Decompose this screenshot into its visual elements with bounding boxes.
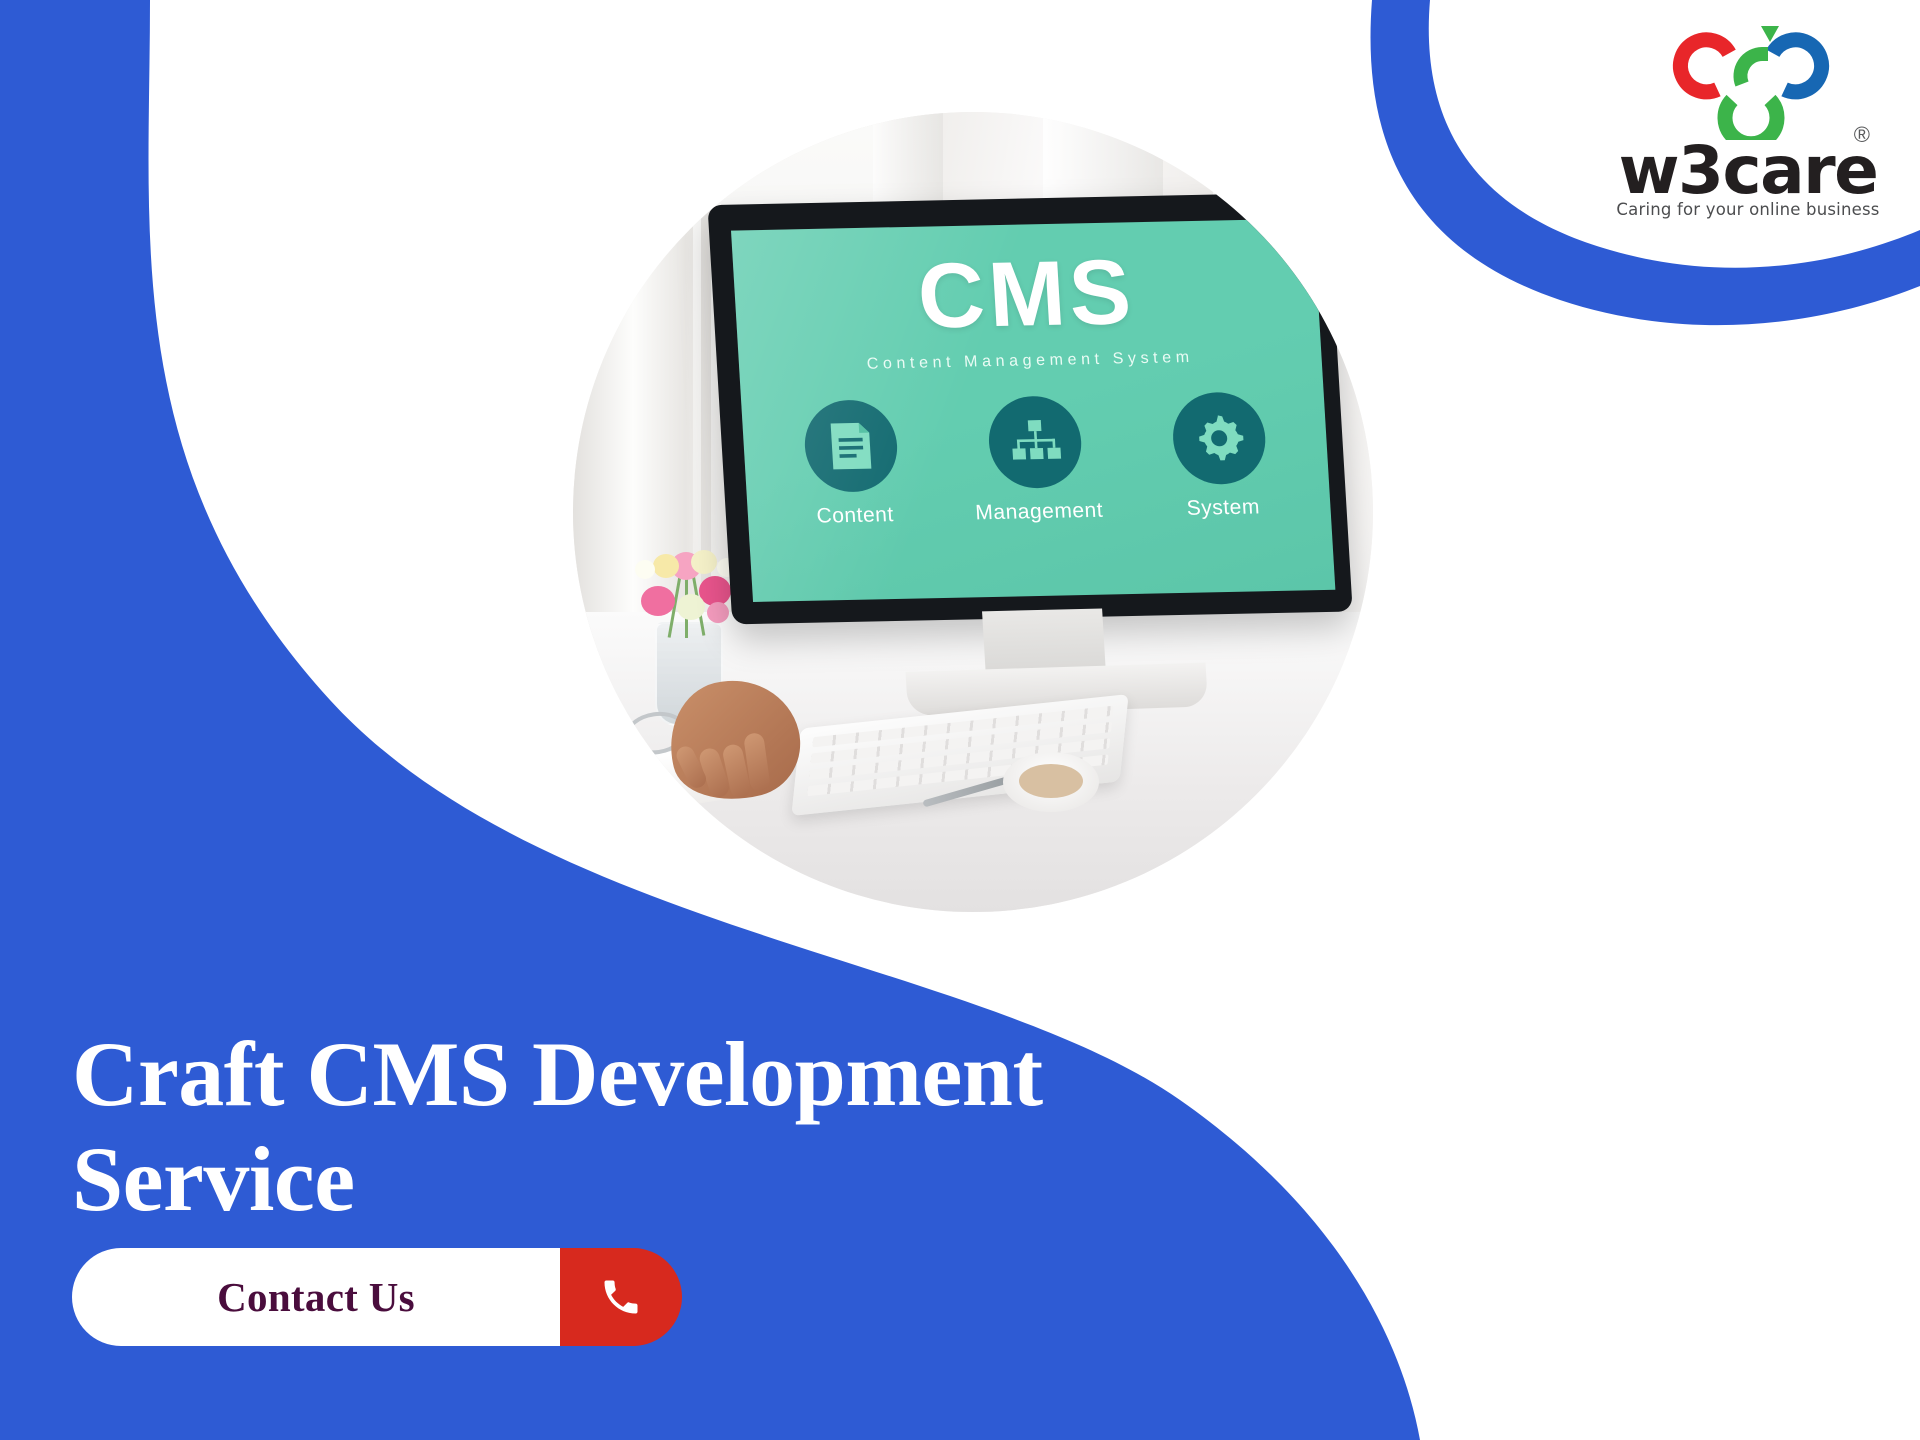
page-title: Craft CMS Development Service [72,1022,1152,1232]
logo-mark-icon [1666,22,1836,140]
screen-item-label: System [1157,495,1290,522]
hero-photo: CMS Content Management System [573,112,1373,912]
gear-icon [1170,391,1268,485]
brand-logo[interactable]: w3care ® Caring for your online business [1608,22,1888,222]
window-frame [701,112,711,582]
monitor-bezel: CMS Content Management System [707,192,1352,624]
coffee-cup [1003,752,1099,812]
registered-trademark-mark: ® [1854,122,1870,148]
monitor-screen: CMS Content Management System [731,218,1335,602]
phone-icon[interactable] [560,1248,682,1346]
screen-glare [731,218,1115,602]
contact-us-button[interactable]: Contact Us [72,1248,682,1346]
poster-canvas: CMS Content Management System [0,0,1920,1440]
logo-wordmark: w3care [1619,132,1878,209]
imac-monitor: CMS Content Management System [708,178,1373,736]
logo-wordmark-row: w3care [1608,132,1888,209]
screen-item-system: System [1150,391,1290,522]
contact-us-label[interactable]: Contact Us [72,1248,560,1346]
logo-tagline: Caring for your online business [1608,200,1888,219]
